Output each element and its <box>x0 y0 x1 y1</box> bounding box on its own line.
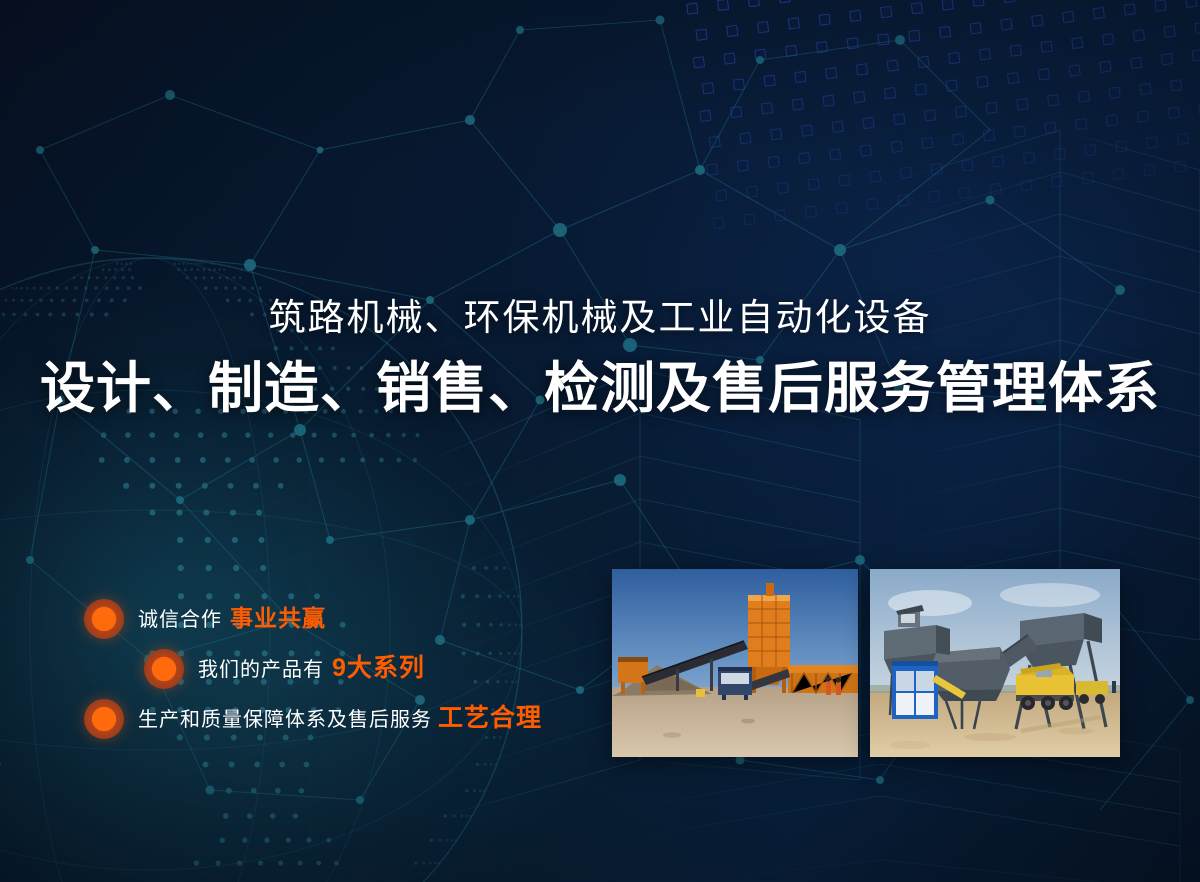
list-item: 生产和质量保障体系及售后服务工艺合理 <box>84 696 560 742</box>
blueprint-square-grid <box>686 0 1200 262</box>
headline-block: 筑路机械、环保机械及工业自动化设备 设计、制造、销售、检测及售后服务管理体系 <box>0 296 1200 420</box>
promo-banner: 筑路机械、环保机械及工业自动化设备 设计、制造、销售、检测及售后服务管理体系 诚… <box>0 0 1200 882</box>
orange-dot-icon <box>144 649 184 689</box>
mobile-mixing-plant-photo <box>870 569 1120 757</box>
bullet-prefix: 生产和质量保障体系及售后服务 <box>138 709 432 731</box>
bullet-text: 诚信合作事业共赢 <box>138 607 326 631</box>
orange-dot-icon <box>84 699 124 739</box>
list-item: 诚信合作事业共赢 <box>84 596 560 642</box>
bullet-highlight: 9大系列 <box>332 654 425 682</box>
orange-dot-icon <box>84 599 124 639</box>
bullet-text: 我们的产品有9大系列 <box>198 657 425 681</box>
bullet-highlight: 工艺合理 <box>438 704 542 732</box>
list-item: 我们的产品有9大系列 <box>144 646 560 692</box>
bullet-text: 生产和质量保障体系及售后服务工艺合理 <box>138 707 542 731</box>
headline-main-title: 设计、制造、销售、检测及售后服务管理体系 <box>0 356 1200 420</box>
dotted-globe-decoration <box>0 180 600 882</box>
bullet-prefix: 我们的产品有 <box>198 659 324 681</box>
concrete-batching-plant-photo <box>612 569 858 757</box>
headline-subtitle: 筑路机械、环保机械及工业自动化设备 <box>0 296 1200 340</box>
bullet-highlight: 事业共赢 <box>230 605 326 631</box>
feature-bullet-list: 诚信合作事业共赢 我们的产品有9大系列 生产和质量保障体系及售后服务工艺合理 <box>0 596 560 742</box>
bullet-prefix: 诚信合作 <box>138 609 222 631</box>
